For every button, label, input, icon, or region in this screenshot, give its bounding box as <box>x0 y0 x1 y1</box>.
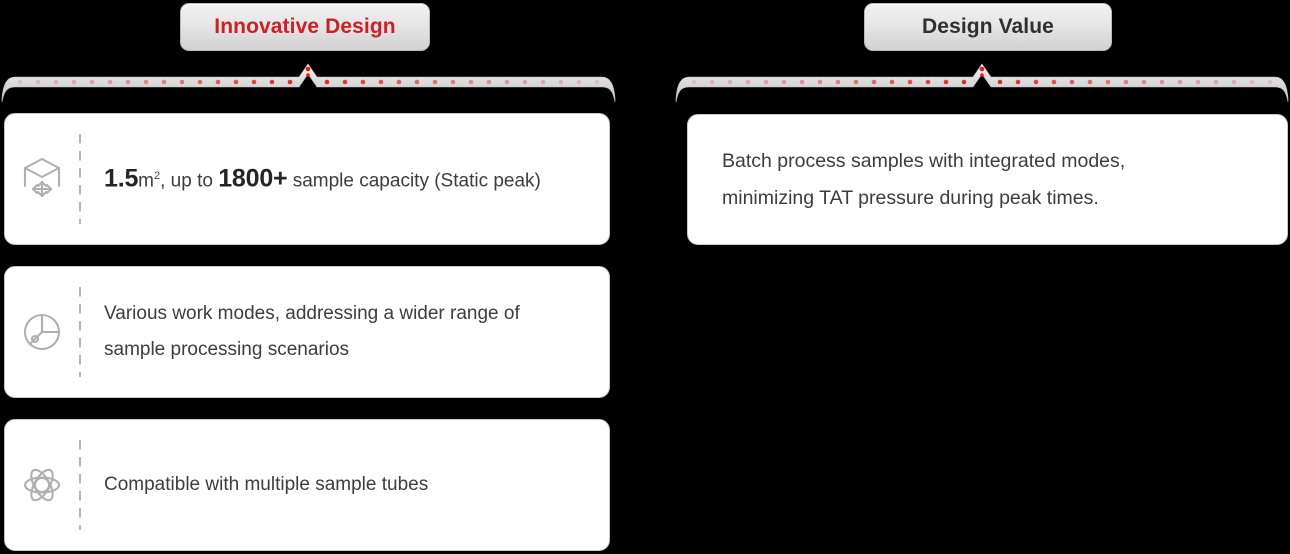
column-header-design-value[interactable]: Design Value <box>864 3 1112 51</box>
feature-card-text-line1: Various work modes, addressing a wider r… <box>104 296 595 332</box>
card-divider <box>79 134 81 224</box>
value-card-batch-process[interactable]: Batch process samples with integrated mo… <box>687 114 1288 245</box>
value-card-text: Batch process samples with integrated mo… <box>722 143 1253 217</box>
column-header-label: Design Value <box>922 15 1054 39</box>
card-divider <box>79 287 81 377</box>
feature-card-capacity[interactable]: 1.5m2, up to 1800+ sample capacity (Stat… <box>4 113 610 245</box>
atom-icon <box>5 464 79 506</box>
capacity-text-tail: sample capacity (Static peak) <box>287 171 540 192</box>
capacity-text-middle: , up to <box>160 171 218 192</box>
feature-card-text: Compatible with multiple sample tubes <box>104 467 609 503</box>
dotted-bracket-right <box>676 64 1288 106</box>
column-header-innovative-design[interactable]: Innovative Design <box>180 3 430 51</box>
card-divider <box>79 440 81 530</box>
column-header-label: Innovative Design <box>214 15 395 39</box>
capacity-area-unit: m <box>138 171 154 192</box>
feature-card-text: 1.5m2, up to 1800+ sample capacity (Stat… <box>104 158 609 199</box>
feature-card-text-line2: sample processing scenarios <box>104 332 595 368</box>
pie-chart-icon <box>5 311 79 353</box>
capacity-area-value: 1.5 <box>104 165 138 193</box>
infographic-canvas: Innovative Design <box>0 0 1290 554</box>
feature-card-text: Various work modes, addressing a wider r… <box>104 296 609 368</box>
feature-card-sample-tubes[interactable]: Compatible with multiple sample tubes <box>4 419 610 551</box>
value-card-text-line2: minimizing TAT pressure during peak time… <box>722 180 1253 217</box>
feature-card-text-line1: Compatible with multiple sample tubes <box>104 467 595 503</box>
dotted-bracket-left <box>2 64 615 106</box>
feature-card-work-modes[interactable]: Various work modes, addressing a wider r… <box>4 266 610 398</box>
capacity-count-value: 1800+ <box>218 165 287 193</box>
box-capacity-icon <box>5 156 79 202</box>
value-card-text-line1: Batch process samples with integrated mo… <box>722 143 1253 180</box>
